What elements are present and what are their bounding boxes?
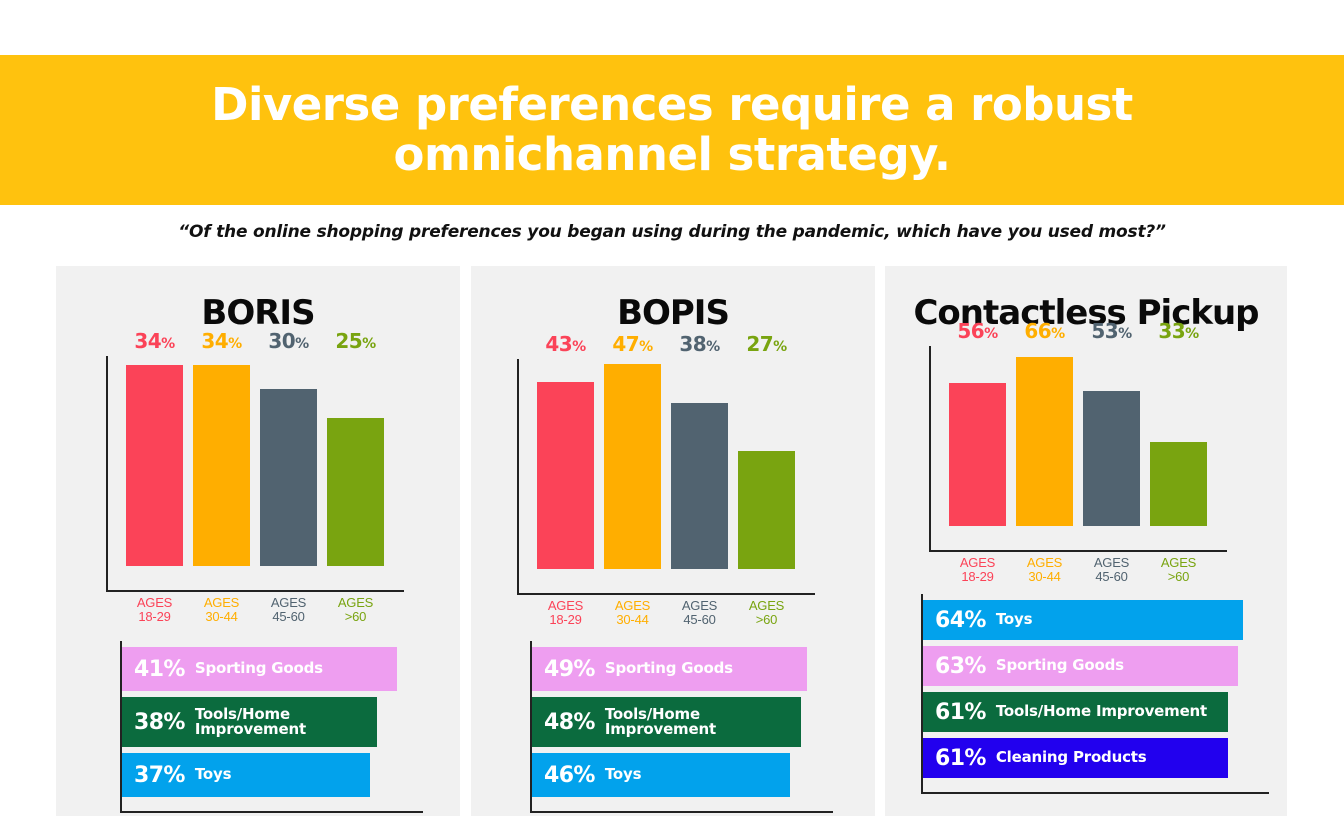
category-name: Sporting Goods: [605, 661, 733, 676]
bar: [604, 364, 661, 569]
age-tick-line1: AGES: [537, 599, 594, 613]
age-tick-line1: AGES: [949, 556, 1006, 570]
bar-value-number: 33: [1158, 319, 1185, 343]
category-percent: 48%: [544, 710, 595, 735]
category-percent: 49%: [544, 657, 595, 682]
bar: [1016, 357, 1073, 526]
age-axis-labels: AGES18-29AGES30-44AGES45-60AGES>60: [537, 599, 795, 626]
bar-column: 66%: [1016, 346, 1073, 526]
category-name: Cleaning Products: [996, 750, 1147, 765]
percent-sign: %: [572, 339, 586, 355]
category-name: Toys: [605, 767, 641, 782]
percent-sign: %: [1118, 326, 1132, 342]
age-tick-line2: 30-44: [604, 613, 661, 627]
bar-column: 47%: [604, 359, 661, 569]
age-tick-label: AGES30-44: [193, 596, 250, 623]
age-bar-chart: 43%47%38%27%AGES18-29AGES30-44AGES45-60A…: [517, 359, 857, 595]
bar-value-label: 27%: [746, 332, 786, 356]
percent-sign: %: [773, 339, 787, 355]
category-name: Tools/Home Improvement: [996, 704, 1207, 719]
bar-value-label: 34%: [134, 329, 174, 353]
age-tick-label: AGES>60: [738, 599, 795, 626]
page-title: Diverse preferences require a robust omn…: [172, 80, 1172, 181]
bar-group: 43%47%38%27%: [537, 359, 795, 569]
panel-title: BORIS: [56, 293, 460, 333]
category-bar-row: 37%Toys: [122, 753, 370, 797]
bar-value-number: 66: [1024, 319, 1051, 343]
age-tick-line1: AGES: [1016, 556, 1073, 570]
age-bar-chart: 56%66%53%33%AGES18-29AGES30-44AGES45-60A…: [929, 346, 1269, 552]
age-tick-line2: 30-44: [193, 610, 250, 624]
age-tick-line2: >60: [327, 610, 384, 624]
bar-value-number: 38: [679, 332, 706, 356]
y-axis: [106, 356, 108, 592]
bar-column: 43%: [537, 359, 594, 569]
age-bar-chart: 34%34%30%25%AGES18-29AGES30-44AGES45-60A…: [106, 356, 446, 592]
y-axis: [929, 346, 931, 552]
category-name: Toys: [195, 767, 231, 782]
category-row-group: 49%Sporting Goods48%Tools/Home Improveme…: [532, 647, 860, 797]
age-tick-line2: 45-60: [260, 610, 317, 624]
bar-value-label: 33%: [1158, 319, 1198, 343]
category-percent: 61%: [935, 700, 986, 725]
age-tick-line1: AGES: [1150, 556, 1207, 570]
age-axis-labels: AGES18-29AGES30-44AGES45-60AGES>60: [949, 556, 1207, 583]
bar-column: 34%: [126, 356, 183, 566]
age-tick-line2: >60: [738, 613, 795, 627]
bar-column: 56%: [949, 346, 1006, 526]
category-percent: 37%: [134, 763, 185, 788]
bar-value-number: 30: [268, 329, 295, 353]
age-tick-line1: AGES: [738, 599, 795, 613]
category-bar-row: 41%Sporting Goods: [122, 647, 397, 691]
category-bar-chart: 41%Sporting Goods38%Tools/Home Improveme…: [120, 641, 450, 813]
panel-bopis: BOPIS43%47%38%27%AGES18-29AGES30-44AGES4…: [471, 266, 875, 816]
percent-sign: %: [161, 336, 175, 352]
age-tick-line2: 45-60: [1083, 570, 1140, 584]
age-tick-line2: 18-29: [126, 610, 183, 624]
percent-sign: %: [1051, 326, 1065, 342]
age-tick-line2: 18-29: [949, 570, 1006, 584]
bar: [260, 389, 317, 566]
category-bar-row: 49%Sporting Goods: [532, 647, 807, 691]
percent-sign: %: [228, 336, 242, 352]
bar-column: 33%: [1150, 346, 1207, 526]
age-tick-line1: AGES: [671, 599, 728, 613]
age-tick-label: AGES30-44: [1016, 556, 1073, 583]
bar-value-number: 47: [612, 332, 639, 356]
category-bar-row: 63%Sporting Goods: [923, 646, 1238, 686]
category-bar-chart: 49%Sporting Goods48%Tools/Home Improveme…: [530, 641, 860, 813]
x-axis: [106, 590, 404, 592]
category-name: Toys: [996, 612, 1032, 627]
category-bar-row: 64%Toys: [923, 600, 1243, 640]
y-axis: [517, 359, 519, 595]
bar: [1150, 442, 1207, 526]
percent-sign: %: [295, 336, 309, 352]
bar-value-label: 53%: [1091, 319, 1131, 343]
age-tick-label: AGES18-29: [949, 556, 1006, 583]
age-tick-line1: AGES: [327, 596, 384, 610]
category-row-group: 41%Sporting Goods38%Tools/Home Improveme…: [122, 647, 450, 797]
percent-sign: %: [639, 339, 653, 355]
percent-sign: %: [1185, 326, 1199, 342]
category-name: Sporting Goods: [195, 661, 323, 676]
age-tick-line1: AGES: [1083, 556, 1140, 570]
panel-boris: BORIS34%34%30%25%AGES18-29AGES30-44AGES4…: [56, 266, 460, 816]
bar: [327, 418, 384, 566]
bar-column: 30%: [260, 356, 317, 566]
age-tick-label: AGES18-29: [126, 596, 183, 623]
percent-sign: %: [362, 336, 376, 352]
bar-column: 34%: [193, 356, 250, 566]
survey-question: “Of the online shopping preferences you …: [0, 222, 1344, 242]
bar-value-label: 43%: [545, 332, 585, 356]
bar: [537, 382, 594, 569]
bar: [671, 403, 728, 569]
bar-value-number: 56: [957, 319, 984, 343]
panel-title: Contactless Pickup: [885, 293, 1287, 333]
category-percent: 64%: [935, 608, 986, 633]
age-tick-label: AGES30-44: [604, 599, 661, 626]
category-percent: 63%: [935, 654, 986, 679]
bar-value-number: 34: [134, 329, 161, 353]
category-bar-row: 48%Tools/Home Improvement: [532, 697, 801, 747]
panel-contactless-pickup: Contactless Pickup56%66%53%33%AGES18-29A…: [885, 266, 1287, 816]
age-tick-label: AGES>60: [327, 596, 384, 623]
category-x-axis: [120, 811, 423, 813]
percent-sign: %: [984, 326, 998, 342]
percent-sign: %: [706, 339, 720, 355]
category-percent: 61%: [935, 746, 986, 771]
bar: [193, 365, 250, 566]
bar-group: 34%34%30%25%: [126, 356, 384, 566]
bar: [126, 365, 183, 566]
category-percent: 46%: [544, 763, 595, 788]
category-bar-row: 46%Toys: [532, 753, 790, 797]
x-axis: [517, 593, 815, 595]
age-tick-line1: AGES: [260, 596, 317, 610]
bar-value-label: 34%: [201, 329, 241, 353]
bar-group: 56%66%53%33%: [949, 346, 1207, 526]
bar-value-number: 53: [1091, 319, 1118, 343]
category-name: Sporting Goods: [996, 658, 1124, 673]
age-axis-labels: AGES18-29AGES30-44AGES45-60AGES>60: [126, 596, 384, 623]
category-bar-row: 61%Tools/Home Improvement: [923, 692, 1228, 732]
category-x-axis: [921, 792, 1269, 794]
category-bar-chart: 64%Toys63%Sporting Goods61%Tools/Home Im…: [921, 594, 1286, 794]
bar-column: 27%: [738, 359, 795, 569]
bar-value-number: 27: [746, 332, 773, 356]
bar: [949, 383, 1006, 526]
age-tick-label: AGES45-60: [671, 599, 728, 626]
category-bar-row: 38%Tools/Home Improvement: [122, 697, 377, 747]
age-tick-line2: 30-44: [1016, 570, 1073, 584]
bar-value-number: 25: [335, 329, 362, 353]
category-name: Tools/Home Improvement: [195, 707, 306, 738]
bar-value-label: 30%: [268, 329, 308, 353]
bar-column: 38%: [671, 359, 728, 569]
bar-value-label: 25%: [335, 329, 375, 353]
bar: [1083, 391, 1140, 526]
bar-column: 53%: [1083, 346, 1140, 526]
age-tick-line2: 45-60: [671, 613, 728, 627]
age-tick-line1: AGES: [604, 599, 661, 613]
category-bar-row: 61%Cleaning Products: [923, 738, 1228, 778]
age-tick-line2: >60: [1150, 570, 1207, 584]
age-tick-line2: 18-29: [537, 613, 594, 627]
bar-value-number: 43: [545, 332, 572, 356]
bar: [738, 451, 795, 569]
category-row-group: 64%Toys63%Sporting Goods61%Tools/Home Im…: [923, 600, 1286, 778]
bar-column: 25%: [327, 356, 384, 566]
category-percent: 38%: [134, 710, 185, 735]
category-name: Tools/Home Improvement: [605, 707, 716, 738]
bar-value-label: 56%: [957, 319, 997, 343]
age-tick-line1: AGES: [193, 596, 250, 610]
age-tick-line1: AGES: [126, 596, 183, 610]
panel-title: BOPIS: [471, 293, 875, 333]
category-percent: 41%: [134, 657, 185, 682]
bar-value-label: 38%: [679, 332, 719, 356]
category-x-axis: [530, 811, 833, 813]
age-tick-label: AGES45-60: [260, 596, 317, 623]
bar-value-label: 66%: [1024, 319, 1064, 343]
age-tick-label: AGES45-60: [1083, 556, 1140, 583]
bar-value-number: 34: [201, 329, 228, 353]
x-axis: [929, 550, 1227, 552]
bar-value-label: 47%: [612, 332, 652, 356]
age-tick-label: AGES>60: [1150, 556, 1207, 583]
header-band: Diverse preferences require a robust omn…: [0, 55, 1344, 205]
age-tick-label: AGES18-29: [537, 599, 594, 626]
